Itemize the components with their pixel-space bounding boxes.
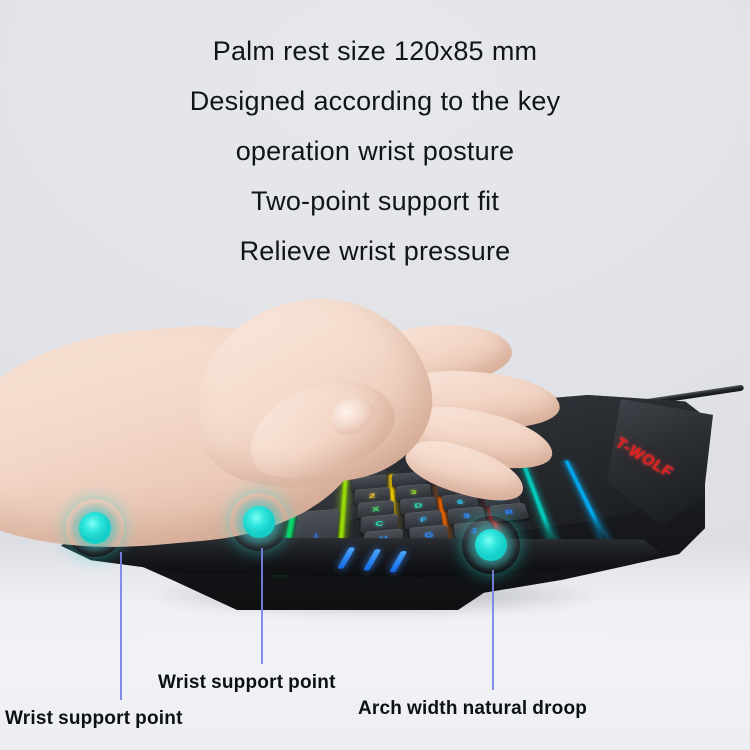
headline-line-2: Designedaccordingtothekey xyxy=(0,76,750,126)
annotation-marker xyxy=(66,499,124,557)
headline-line-1: Palmrestsize120x85mm xyxy=(0,26,750,76)
annotation-marker xyxy=(462,516,520,574)
headline-word: 120x85 xyxy=(394,26,484,76)
headline-block: Palmrestsize120x85mm Designedaccordingto… xyxy=(0,26,750,276)
annotation-caption-word: Wrist xyxy=(158,672,206,693)
headline-word: wrist xyxy=(358,126,415,176)
annotation-caption-word: support xyxy=(211,672,283,693)
headline-line-4: Two-pointsupportfit xyxy=(0,176,750,226)
annotation-caption-word: Arch xyxy=(358,698,402,719)
headline-word: key xyxy=(518,76,561,126)
headline-word: fit xyxy=(477,176,499,226)
annotation-caption-word: Wrist xyxy=(5,708,53,729)
annotation-caption: Wristsupportpoint xyxy=(158,672,336,694)
headline-word: wrist xyxy=(339,226,396,276)
annotation-leader-line xyxy=(120,552,122,700)
annotation-leader-line xyxy=(492,570,494,690)
annotation-caption-word: width xyxy=(407,698,458,719)
headline-word: according xyxy=(313,76,432,126)
headline-word: size xyxy=(337,26,386,76)
headline-word: operation xyxy=(236,126,350,176)
annotation-marker xyxy=(230,493,288,551)
annotation-caption-word: point xyxy=(135,708,182,729)
headline-word: mm xyxy=(492,26,537,76)
annotation-caption: Wristsupportpoint xyxy=(5,708,183,730)
annotation-caption-word: natural xyxy=(463,698,528,719)
product-marketing-image: Palmrestsize120x85mm Designedaccordingto… xyxy=(0,0,750,750)
headline-word: to xyxy=(440,76,463,126)
headline-word: rest xyxy=(283,26,329,76)
headline-word: Palm xyxy=(213,26,275,76)
headline-word: posture xyxy=(423,126,514,176)
annotation-leader-line xyxy=(261,548,263,664)
annotation-caption: Archwidthnaturaldroop xyxy=(358,698,587,720)
front-accent-light xyxy=(389,551,407,573)
headline-word: pressure xyxy=(404,226,511,276)
annotation-caption-word: point xyxy=(288,672,335,693)
headline-word: Relieve xyxy=(240,226,331,276)
annotation-caption-word: support xyxy=(58,708,130,729)
headline-word: Designed xyxy=(190,76,306,126)
headline-word: support xyxy=(378,176,469,226)
headline-line-5: Relievewristpressure xyxy=(0,226,750,276)
headline-line-3: operationwristposture xyxy=(0,126,750,176)
key-legend: G xyxy=(424,530,434,539)
front-accent-light xyxy=(363,549,381,571)
annotation-caption-word: droop xyxy=(532,698,587,719)
headline-word: Two-point xyxy=(251,176,370,226)
headline-word: the xyxy=(471,76,509,126)
